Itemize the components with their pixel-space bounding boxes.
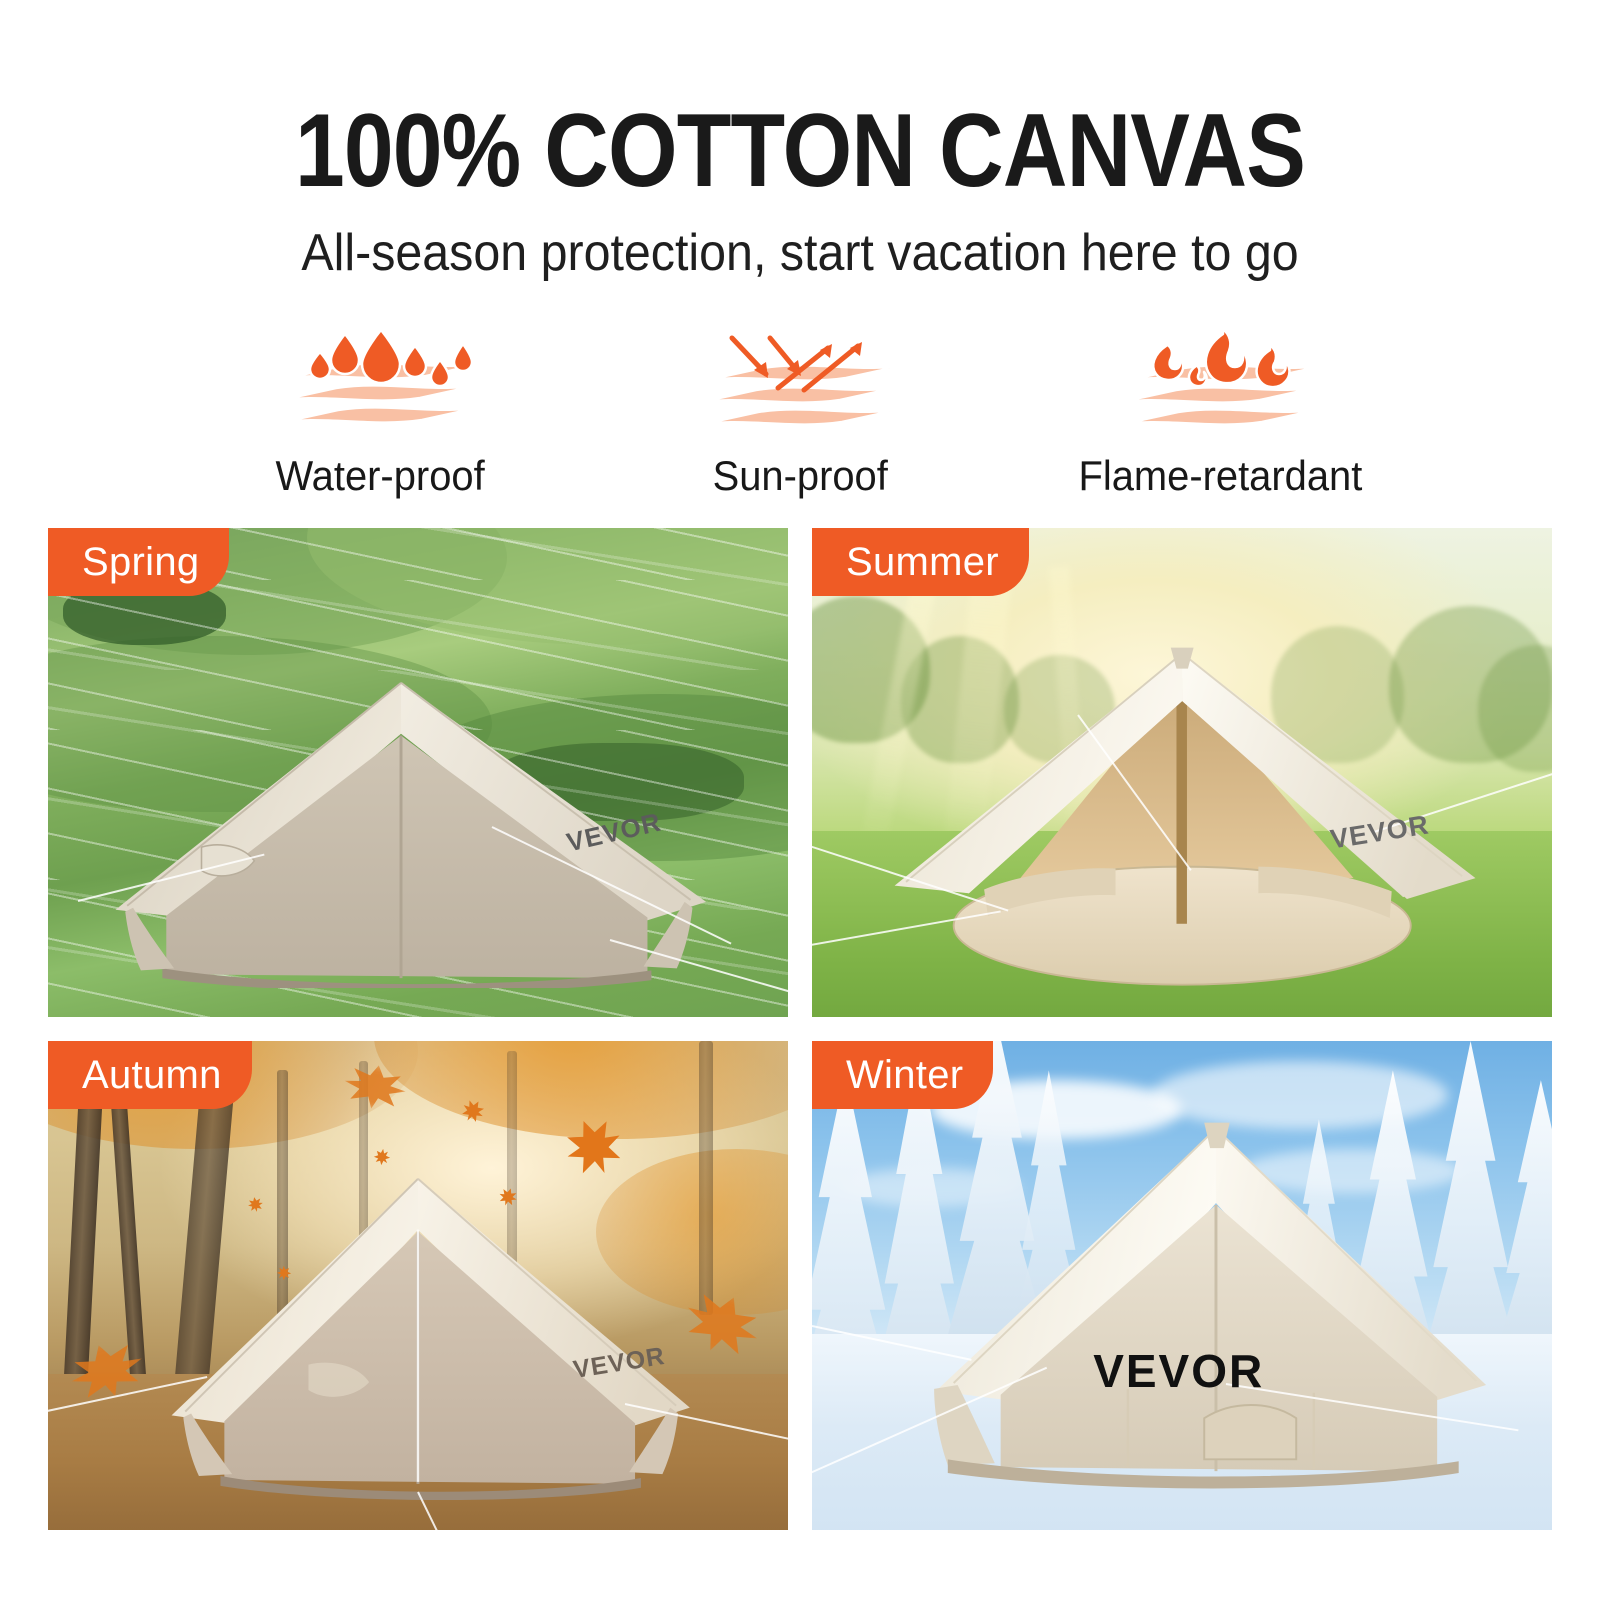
feature-flame-retardant: Flame-retardant: [1020, 330, 1420, 500]
feature-water-proof: Water-proof: [180, 330, 580, 500]
autumn-scene: [48, 1041, 788, 1530]
winter-scene: [812, 1041, 1552, 1530]
sun-rays-reflecting-off-fabric-layers-icon: [670, 330, 930, 448]
feature-label: Water-proof: [275, 452, 484, 500]
season-panel-winter[interactable]: VEVOR Winter: [812, 1041, 1552, 1530]
vevor-logo: VEVOR: [1093, 1344, 1264, 1398]
bell-tent-winter: [893, 1114, 1500, 1515]
page-subtitle: All-season protection, start vacation he…: [56, 222, 1544, 284]
season-badge-spring: Spring: [48, 528, 229, 596]
season-panel-summer[interactable]: VEVOR Summer: [812, 528, 1552, 1017]
feature-row: Water-proof: [180, 330, 1420, 500]
water-droplets-on-fabric-layers-icon: [250, 330, 510, 448]
feature-label: Flame-retardant: [1078, 452, 1362, 500]
page-title: 100% COTTON CANVAS: [112, 96, 1488, 206]
product-infographic: 100% COTTON CANVAS All-season protection…: [0, 0, 1600, 1600]
feature-label: Sun-proof: [712, 452, 887, 500]
bell-tent-autumn: [152, 1168, 700, 1510]
season-gallery: VEVOR Spring: [48, 528, 1552, 1530]
summer-scene: [812, 528, 1552, 1017]
season-badge-winter: Winter: [812, 1041, 993, 1109]
season-badge-summer: Summer: [812, 528, 1029, 596]
season-panel-autumn[interactable]: VEVOR Autumn: [48, 1041, 788, 1530]
spring-scene: [48, 528, 788, 1017]
feature-sun-proof: Sun-proof: [600, 330, 1000, 500]
tree-trunk: [699, 1041, 713, 1315]
season-badge-autumn: Autumn: [48, 1041, 252, 1109]
flames-on-fabric-layers-icon: [1090, 330, 1350, 448]
season-panel-spring[interactable]: VEVOR Spring: [48, 528, 788, 1017]
